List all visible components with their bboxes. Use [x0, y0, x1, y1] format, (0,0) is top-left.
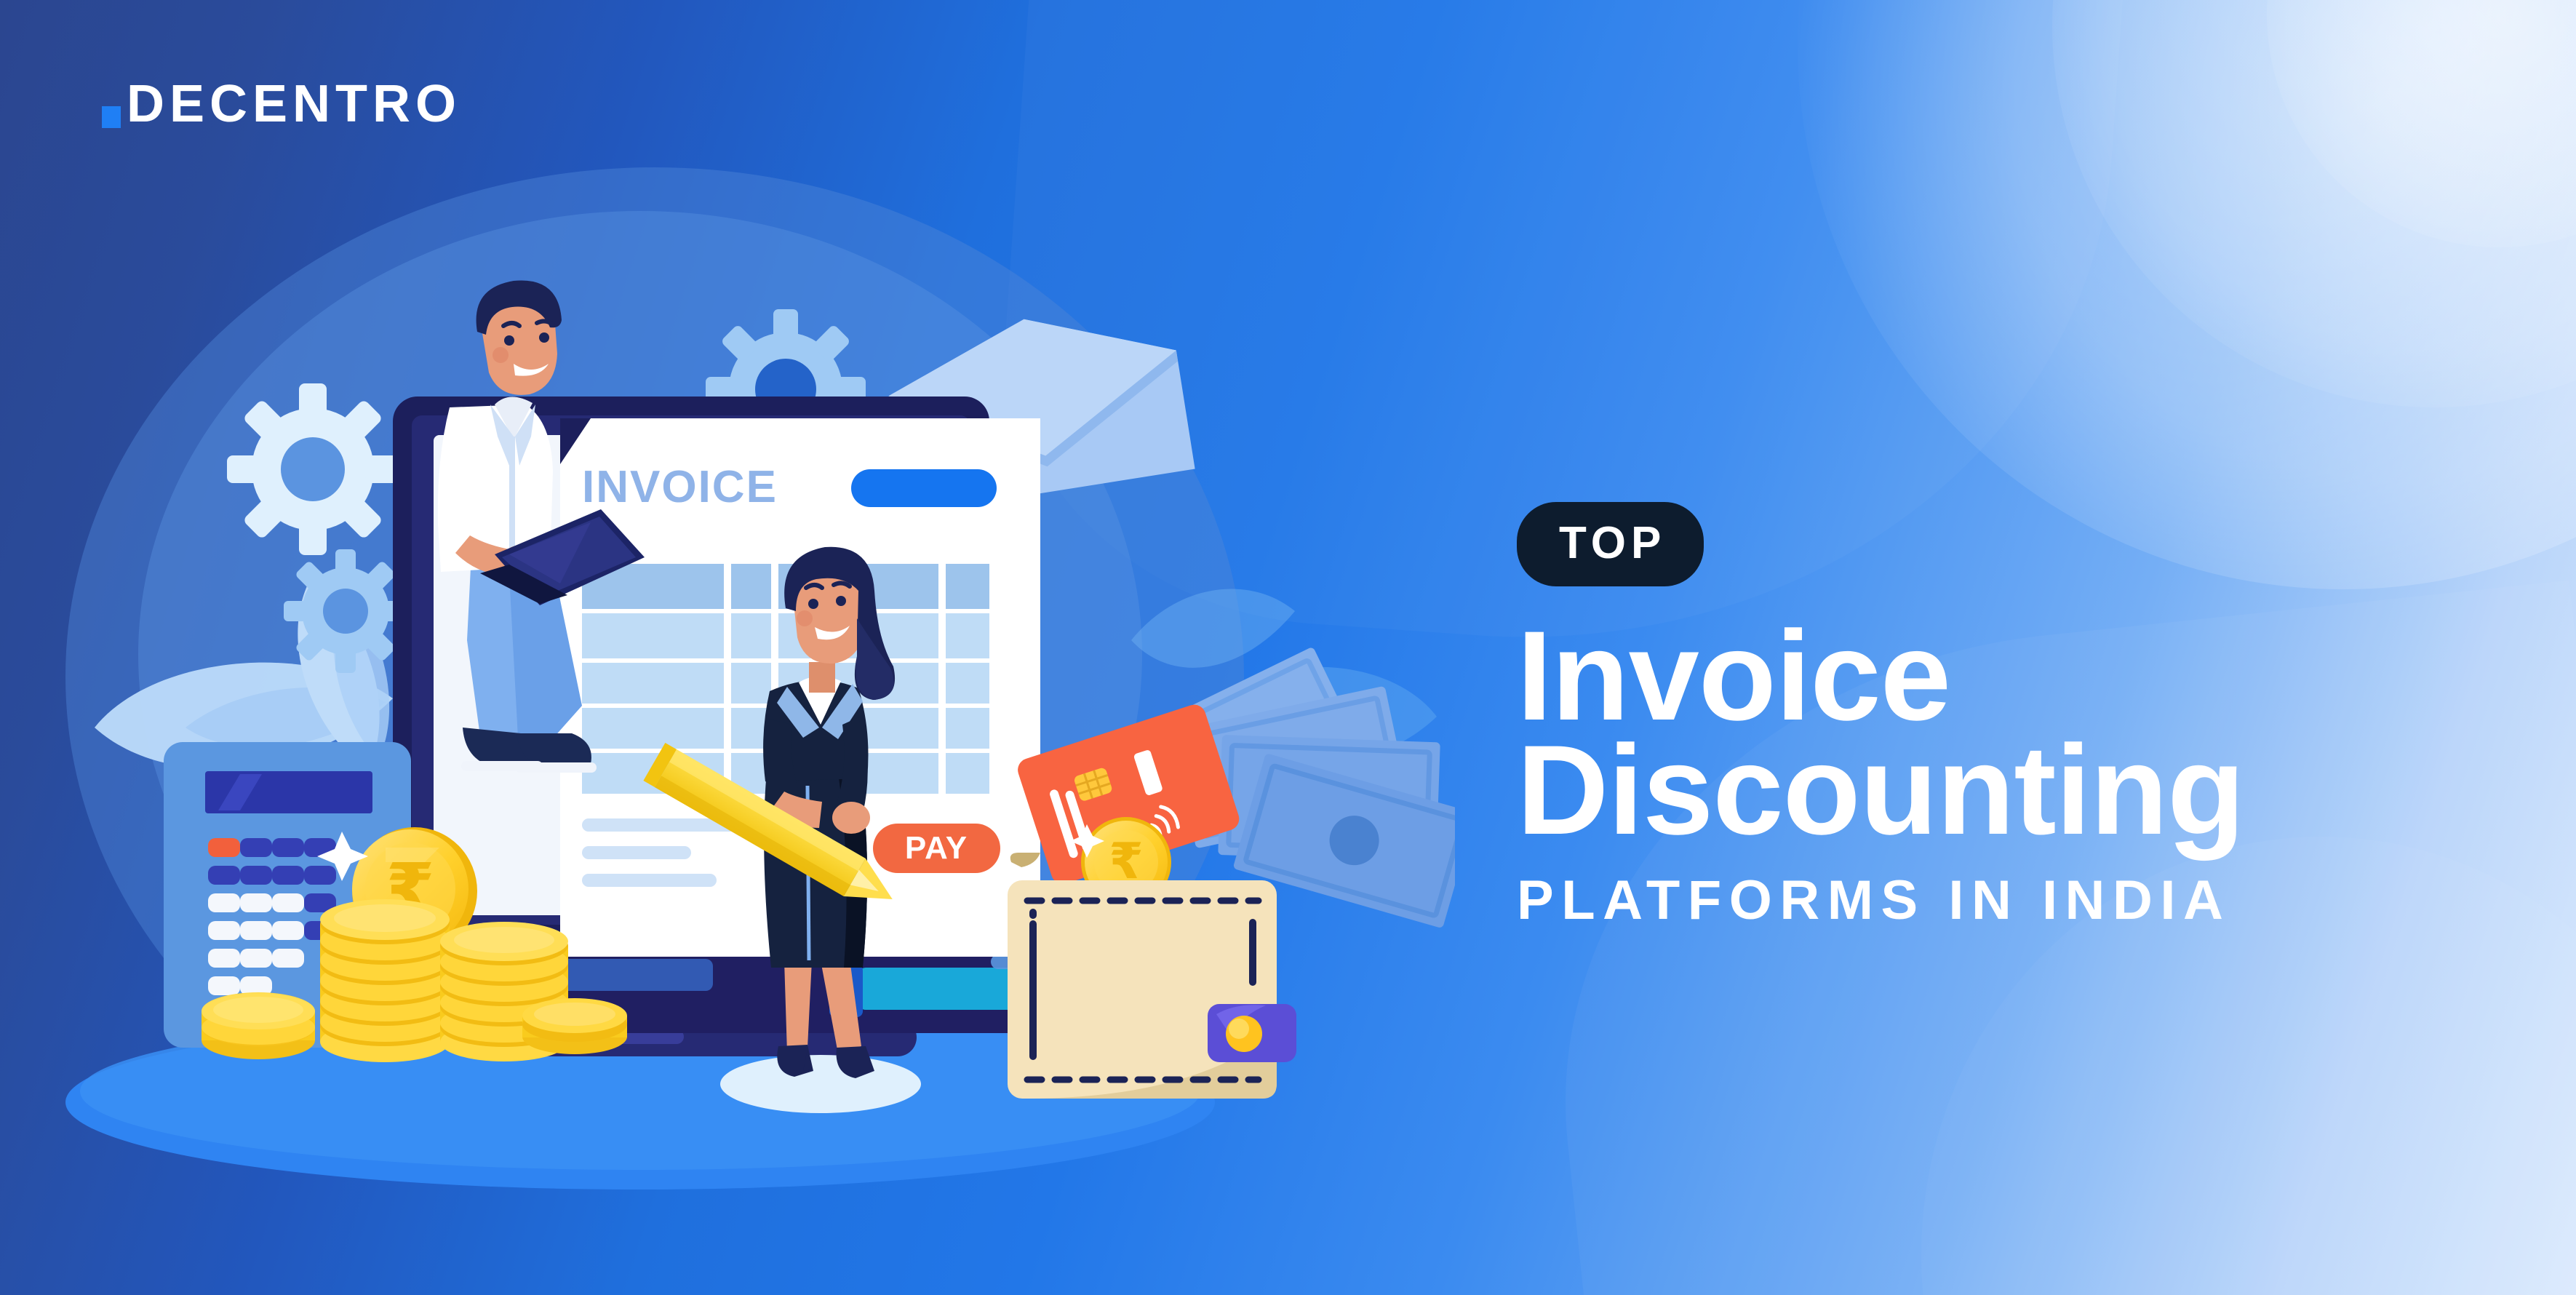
- glow-ring-inner: [2267, 0, 2576, 247]
- logo-dot-icon: [102, 76, 122, 128]
- gear-icon-large: [227, 383, 399, 555]
- brand-logo[interactable]: DECENTRO: [102, 76, 461, 128]
- coin-stack-short-right: [522, 998, 627, 1054]
- headline-group: TOP Invoice Discounting PLATFORMS IN IND…: [1517, 502, 2535, 928]
- wallet: [1008, 853, 1296, 1099]
- banner-root: DECENTRO: [0, 0, 2576, 1295]
- pay-button: PAY: [873, 824, 1000, 873]
- invoice-badge: [851, 469, 997, 507]
- glow-ring-middle: [2052, 0, 2576, 407]
- coin-stack-tall-middle: [320, 899, 450, 1062]
- invoice-title-text: INVOICE: [582, 462, 778, 512]
- headline-line-2: Discounting: [1517, 727, 2535, 854]
- headline-subline: PLATFORMS IN INDIA: [1517, 873, 2535, 928]
- svg-text:PAY: PAY: [905, 830, 968, 866]
- illustration-scene: INVOICE: [0, 0, 1455, 1295]
- wallet-clasp: [1208, 1004, 1296, 1062]
- logo-wordmark: DECENTRO: [127, 80, 461, 128]
- top-badge: TOP: [1517, 502, 1704, 586]
- coin-stack-short-left: [202, 992, 315, 1059]
